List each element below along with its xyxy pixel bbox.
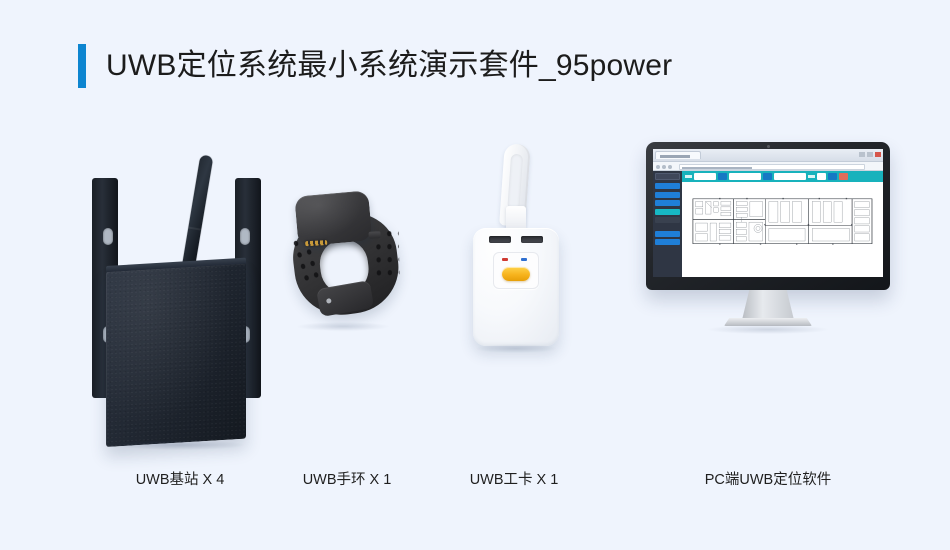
side-button <box>368 231 380 239</box>
accent-bar <box>78 44 86 88</box>
browser-titlebar <box>653 149 883 162</box>
url-input[interactable] <box>679 164 865 170</box>
badge-front-panel <box>493 252 539 289</box>
antenna-icon <box>181 155 213 274</box>
positioning-app <box>653 171 883 277</box>
product-work-card: UWB工卡 X 1 <box>448 130 580 510</box>
toolbar-select[interactable] <box>694 173 716 180</box>
monitor-screen <box>653 149 883 277</box>
enclosure-front-face <box>106 264 246 447</box>
back-icon[interactable] <box>656 165 660 169</box>
product-caption-base-station: UWB基站 X 4 <box>60 468 300 489</box>
product-shadow <box>708 325 828 334</box>
sidebar-item[interactable] <box>655 239 680 245</box>
product-caption-work-card: UWB工卡 X 1 <box>448 468 580 489</box>
browser-tab[interactable] <box>655 151 701 159</box>
page-title: UWB定位系统最小系统演示套件_95power <box>106 51 672 81</box>
maximize-icon[interactable] <box>867 152 873 157</box>
webcam-icon <box>767 145 770 148</box>
toolbar-label <box>808 175 815 178</box>
sidebar-item[interactable] <box>655 183 680 189</box>
close-icon[interactable] <box>875 152 881 157</box>
toolbar-text-input[interactable] <box>729 173 761 180</box>
vent-grille <box>489 236 511 243</box>
toolbar-search-button[interactable] <box>828 173 837 180</box>
toolbar-button[interactable] <box>718 173 727 180</box>
reload-icon[interactable] <box>668 165 672 169</box>
toolbar-text-input[interactable] <box>774 173 806 180</box>
sidebar-header <box>655 173 680 180</box>
product-pc-software: PC端UWB定位软件 <box>640 130 896 510</box>
browser-nav-buttons[interactable] <box>656 165 672 169</box>
sidebar-spacer <box>655 226 680 231</box>
led-blue-icon <box>521 258 527 261</box>
badge-body <box>473 228 559 346</box>
toolbar-reset-button[interactable] <box>839 173 848 180</box>
browser-addressbar[interactable] <box>653 162 883 171</box>
poster-canvas: UWB定位系统最小系统演示套件_95power <box>0 0 950 550</box>
sidebar-item[interactable] <box>655 231 680 237</box>
product-gallery: UWB基站 X 4 UWB手环 X 1 <box>0 130 950 510</box>
product-image-wristband <box>283 130 411 445</box>
led-red-icon <box>502 258 508 261</box>
sidebar-subitem[interactable] <box>655 217 680 223</box>
app-sidebar <box>653 171 682 277</box>
toolbar-button[interactable] <box>763 173 772 180</box>
product-caption-pc-software: PC端UWB定位软件 <box>640 468 896 489</box>
product-shadow <box>114 440 244 450</box>
product-image-work-card <box>448 130 580 445</box>
floorplan-drawing <box>692 197 873 246</box>
minimize-icon[interactable] <box>859 152 865 157</box>
product-caption-wristband: UWB手环 X 1 <box>283 468 411 489</box>
wristband-head <box>294 190 372 246</box>
badge-vents <box>489 236 543 243</box>
sidebar-item-active[interactable] <box>655 209 680 215</box>
monitor-bezel <box>646 142 890 290</box>
product-wristband: UWB手环 X 1 <box>283 130 411 510</box>
floorplan-canvas[interactable] <box>682 182 883 277</box>
toolbar-label <box>685 175 692 178</box>
sidebar-item[interactable] <box>655 192 680 198</box>
app-content <box>682 171 883 277</box>
product-image-base-station <box>60 130 300 445</box>
sidebar-item[interactable] <box>655 200 680 206</box>
monitor-stand-neck <box>742 290 794 320</box>
product-shadow <box>297 322 389 331</box>
forward-icon[interactable] <box>662 165 666 169</box>
bracket-slot <box>103 228 113 245</box>
sos-button <box>502 267 530 281</box>
window-controls[interactable] <box>859 152 881 157</box>
vent-grille <box>521 236 543 243</box>
toolbar-number-input[interactable] <box>817 173 826 180</box>
product-shadow <box>476 344 556 353</box>
app-toolbar <box>682 171 883 182</box>
url-text <box>682 167 752 169</box>
page-header: UWB定位系统最小系统演示套件_95power <box>78 42 672 90</box>
product-image-pc-software <box>640 130 896 445</box>
bracket-slot <box>240 228 250 245</box>
product-base-station: UWB基站 X 4 <box>60 130 300 510</box>
browser-tab-title <box>660 155 690 158</box>
